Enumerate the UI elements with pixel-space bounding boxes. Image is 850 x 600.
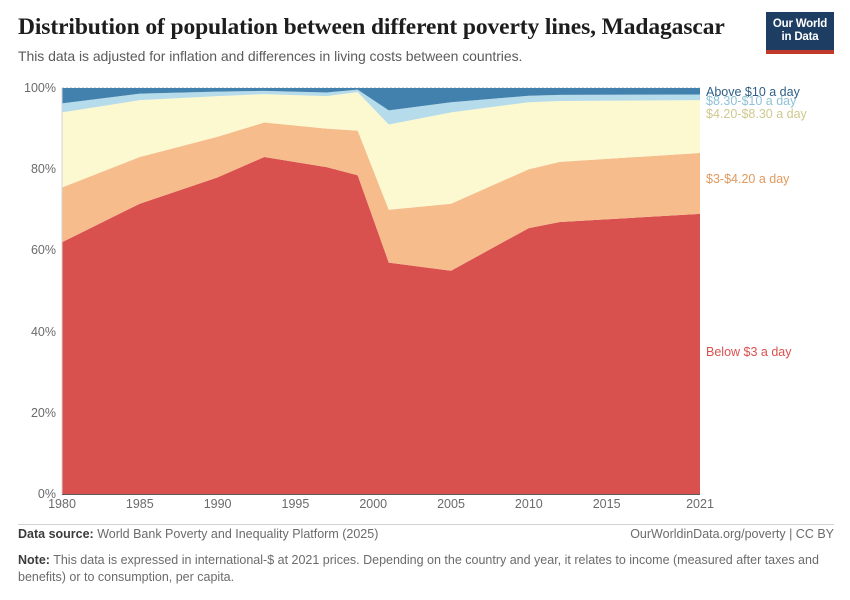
- x-axis-tick-label: 2021: [686, 497, 714, 511]
- data-source-label: Data source:: [18, 527, 94, 541]
- note-text: This data is expressed in international-…: [18, 553, 819, 584]
- note-label: Note:: [18, 553, 50, 567]
- attribution-link[interactable]: OurWorldinData.org/poverty | CC BY: [630, 527, 834, 541]
- x-axis-tick-label: 2010: [515, 497, 543, 511]
- x-axis-tick-label: 1985: [126, 497, 154, 511]
- chart-footer: Data source: World Bank Poverty and Ineq…: [18, 527, 834, 586]
- chart-page: Distribution of population between diffe…: [0, 0, 850, 600]
- data-source: Data source: World Bank Poverty and Ineq…: [18, 527, 378, 541]
- y-axis-tick-label: 40%: [8, 325, 56, 339]
- y-axis-tick-label: 20%: [8, 406, 56, 420]
- series-label-3-4-20-a-day[interactable]: $3-$4.20 a day: [706, 172, 789, 186]
- x-axis-tick-label: 1995: [282, 497, 310, 511]
- series-label-below-3-a-day[interactable]: Below $3 a day: [706, 345, 791, 359]
- chart-area: 0%20%40%60%80%100% 198019851990199520002…: [0, 0, 850, 600]
- x-axis-tick-label: 2005: [437, 497, 465, 511]
- x-axis-tick-label: 2000: [359, 497, 387, 511]
- x-axis-tick-label: 1980: [48, 497, 76, 511]
- y-axis-tick-label: 100%: [8, 81, 56, 95]
- series-label-8-30-10-a-day[interactable]: $8.30-$10 a day: [706, 94, 796, 108]
- series-label-4-20-8-30-a-day[interactable]: $4.20-$8.30 a day: [706, 107, 807, 121]
- x-axis-tick-label: 1990: [204, 497, 232, 511]
- data-source-text: World Bank Poverty and Inequality Platfo…: [94, 527, 379, 541]
- footer-divider: [18, 524, 834, 525]
- area-series-group: [62, 88, 700, 494]
- x-axis-tick-label: 2015: [593, 497, 621, 511]
- y-axis-tick-label: 80%: [8, 162, 56, 176]
- y-axis-tick-label: 60%: [8, 243, 56, 257]
- chart-note: Note: This data is expressed in internat…: [18, 552, 834, 586]
